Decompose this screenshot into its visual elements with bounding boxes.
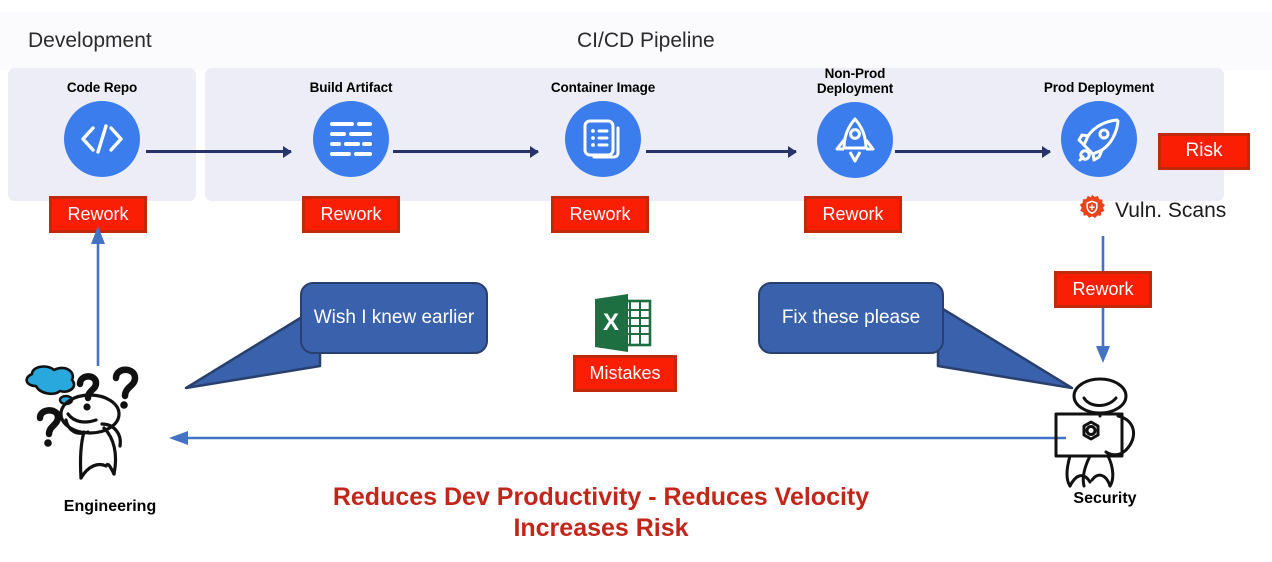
svg-text:X: X xyxy=(603,309,619,336)
section-title-development: Development xyxy=(28,29,152,53)
arrow-security-to-engineering xyxy=(168,430,1068,446)
vuln-scans-label: Vuln. Scans xyxy=(1115,199,1226,223)
stage-build-artifact[interactable]: Build Artifact xyxy=(261,80,441,177)
speech-bubble-engineering-text: Wish I knew earlier xyxy=(314,306,475,330)
section-title-cicd: CI/CD Pipeline xyxy=(577,29,715,53)
speech-bubble-security-text: Fix these please xyxy=(782,306,920,330)
actor-label-engineering: Engineering xyxy=(30,498,190,516)
rocket-launch-icon xyxy=(1061,101,1137,177)
rocket-icon xyxy=(817,102,893,178)
stage-container-image[interactable]: Container Image xyxy=(513,80,693,177)
stage-label-container-image: Container Image xyxy=(513,80,693,95)
badge-rework-container-image[interactable]: Rework xyxy=(551,196,649,233)
speech-bubble-engineering[interactable]: Wish I knew earlier xyxy=(300,282,488,354)
stage-label-prod-deployment: Prod Deployment xyxy=(1009,80,1189,95)
diagram-canvas: Development CI/CD Pipeline Code Repo Rew… xyxy=(0,0,1272,562)
vuln-scans[interactable]: Vuln. Scans xyxy=(1078,194,1226,227)
excel-spreadsheet-icon: X xyxy=(592,292,654,359)
badge-risk[interactable]: Risk xyxy=(1158,133,1250,170)
stage-non-prod-deployment[interactable]: Non-Prod Deployment xyxy=(765,66,945,178)
summary-caption: Reduces Dev Productivity - Reduces Veloc… xyxy=(236,482,966,544)
badge-rework-build-artifact[interactable]: Rework xyxy=(302,196,400,233)
person-with-laptop-icon xyxy=(1040,376,1170,488)
stage-label-code-repo: Code Repo xyxy=(12,80,192,95)
badge-mistakes[interactable]: Mistakes xyxy=(573,355,677,392)
build-lines-icon xyxy=(313,101,389,177)
badge-rework-non-prod[interactable]: Rework xyxy=(804,196,902,233)
document-list-icon xyxy=(565,101,641,177)
code-brackets-icon xyxy=(64,101,140,177)
arrow-engineering-to-rework xyxy=(89,226,107,366)
confused-person-icon xyxy=(18,362,178,480)
speech-bubble-security[interactable]: Fix these please xyxy=(758,282,944,354)
actor-label-security: Security xyxy=(1040,490,1170,508)
stage-label-non-prod-deployment: Non-Prod Deployment xyxy=(765,66,945,96)
stage-code-repo[interactable]: Code Repo xyxy=(12,80,192,177)
stage-label-build-artifact: Build Artifact xyxy=(261,80,441,95)
gear-shield-icon xyxy=(1078,194,1106,227)
